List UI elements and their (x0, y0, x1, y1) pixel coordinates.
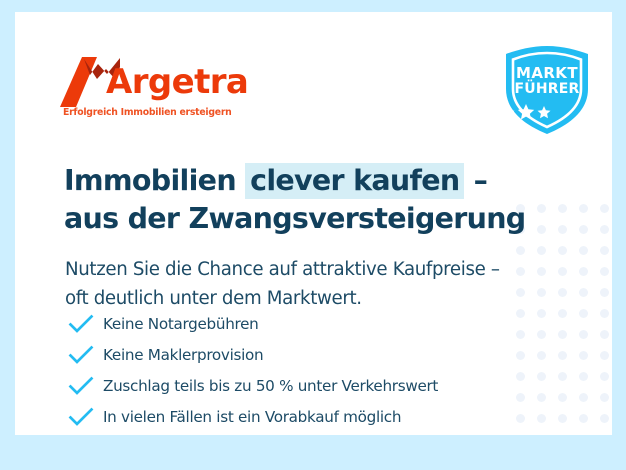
check-icon (68, 314, 94, 334)
dot (516, 246, 525, 255)
dot (600, 246, 609, 255)
dot (600, 225, 609, 234)
dot (579, 351, 588, 360)
headline-line-1-after: – (464, 164, 487, 197)
dot (579, 225, 588, 234)
benefit-item: In vielen Fällen ist ein Vorabkauf mögli… (68, 401, 548, 432)
dot (558, 414, 567, 423)
dot (600, 393, 609, 402)
argetra-logo[interactable]: Argetra Erfolgreich Immobilien ersteiger… (59, 48, 259, 126)
dot (537, 246, 546, 255)
market-leader-badge: MARKT FÜHRER (499, 45, 595, 135)
dot (579, 288, 588, 297)
argetra-tagline: Erfolgreich Immobilien ersteigern (63, 107, 232, 118)
dot (558, 351, 567, 360)
dot (579, 267, 588, 276)
dot (579, 246, 588, 255)
benefit-item: Zuschlag teils bis zu 50 % unter Verkehr… (68, 370, 548, 401)
dot (600, 351, 609, 360)
shield-icon (499, 45, 595, 135)
dot (579, 204, 588, 213)
dot (600, 267, 609, 276)
dot (600, 372, 609, 381)
benefit-label: Keine Maklerprovision (103, 346, 263, 364)
dot (600, 414, 609, 423)
dot (600, 288, 609, 297)
dot (558, 372, 567, 381)
check-icon (68, 345, 94, 365)
dot (579, 372, 588, 381)
check-icon (68, 376, 94, 396)
subheading-line-1: Nutzen Sie die Chance auf attraktive Kau… (65, 259, 500, 280)
dot (579, 393, 588, 402)
dot (579, 414, 588, 423)
headline: Immobilien clever kaufen – aus der Zwang… (64, 162, 564, 238)
check-icon (68, 407, 94, 427)
headline-line-1-before: Immobilien (64, 164, 245, 197)
dot (579, 330, 588, 339)
headline-line-2: aus der Zwangsversteigerung (64, 202, 526, 235)
benefit-label: In vielen Fällen ist ein Vorabkauf mögli… (103, 408, 401, 426)
dot (600, 330, 609, 339)
argetra-wordmark: Argetra (106, 65, 248, 99)
benefit-list: Keine NotargebührenKeine Maklerprovision… (68, 308, 548, 432)
headline-highlight: clever kaufen (245, 163, 464, 199)
dot (558, 246, 567, 255)
banner-card: Argetra Erfolgreich Immobilien ersteiger… (15, 12, 612, 435)
dot (558, 330, 567, 339)
benefit-label: Keine Notargebühren (103, 315, 259, 333)
subheading: Nutzen Sie die Chance auf attraktive Kau… (65, 255, 565, 313)
dot (600, 309, 609, 318)
benefit-item: Keine Notargebühren (68, 308, 548, 339)
dot (558, 393, 567, 402)
benefit-label: Zuschlag teils bis zu 50 % unter Verkehr… (103, 377, 438, 395)
advertisement-banner: Argetra Erfolgreich Immobilien ersteiger… (0, 0, 626, 470)
subheading-line-2: oft deutlich unter dem Marktwert. (65, 288, 362, 309)
benefit-item: Keine Maklerprovision (68, 339, 548, 370)
dot (600, 204, 609, 213)
dot (579, 309, 588, 318)
